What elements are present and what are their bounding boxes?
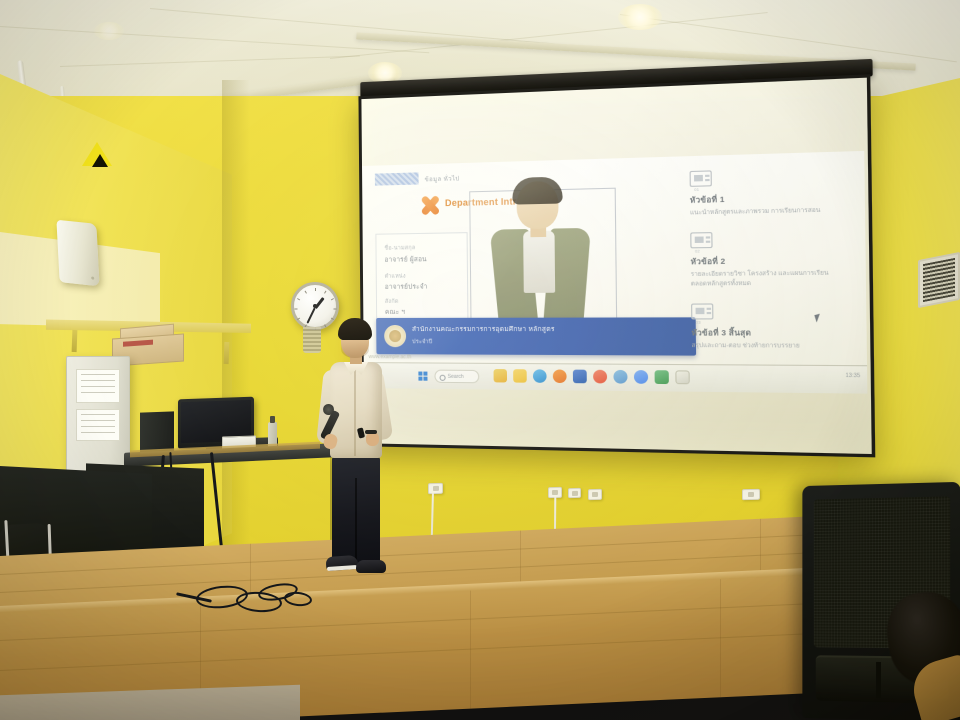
- wall-outlet[interactable]: [588, 489, 602, 500]
- firefox-icon[interactable]: [553, 369, 567, 383]
- shelf-bracket: [72, 330, 78, 352]
- box-tape-strip: [123, 340, 153, 347]
- presenter-leg-seam: [355, 478, 357, 564]
- cabinet-notice-sheet: [76, 409, 120, 441]
- shelf-bracket: [224, 342, 230, 364]
- wall-speaker: [56, 220, 99, 287]
- presenter-face-shading: [341, 340, 369, 358]
- notepad-icon[interactable]: [675, 370, 689, 384]
- topic-item: 02 หัวข้อที่ 2 รายละเอียดรายวิชา โครงสร้…: [690, 230, 840, 288]
- ceiling-downlight: [618, 4, 662, 30]
- topic-item: 01 หัวข้อที่ 1 แนะนำหลักสูตรและภาพรวม กา…: [690, 167, 840, 218]
- info-label: ชื่อ-นามสกุล: [384, 244, 415, 253]
- folder-icon[interactable]: [513, 369, 527, 383]
- brand-x-icon: [419, 194, 441, 217]
- topic-desc: แนะนำหลักสูตรและภาพรวม การเรียนการสอน: [690, 206, 839, 218]
- behringer-logo-inner: [92, 154, 108, 167]
- portrait-info-card: ชื่อ-นามสกุล อาจารย์ ผู้สอน ตำแหน่ง อาจา…: [375, 232, 468, 322]
- cabinet-notice-sheet: [76, 369, 120, 403]
- info-label: ตำแหน่ง: [385, 273, 406, 281]
- info-label: สังกัด: [385, 298, 399, 306]
- presenter-shirt-placket: [354, 368, 356, 456]
- presenter-right-shoe: [356, 560, 386, 573]
- air-vent: [918, 252, 960, 308]
- presentation-slide: ข้อมูล ทั่วไป Department Intro ชื่อ-นามส…: [361, 151, 867, 365]
- topic-icon-caption: 02: [695, 249, 700, 254]
- slide-banner: สำนักงานคณะกรรมการการอุดมศึกษา หลักสูตร …: [376, 317, 696, 355]
- taskbar-icon-row[interactable]: [494, 369, 690, 384]
- slide-top-tag: ข้อมูล ทั่วไป: [425, 173, 460, 184]
- wall-outlet[interactable]: [428, 483, 443, 494]
- mail-icon[interactable]: [573, 370, 587, 384]
- teams-icon[interactable]: [613, 370, 627, 384]
- slide-topic-list: 01 หัวข้อที่ 1 แนะนำหลักสูตรและภาพรวม กา…: [690, 167, 842, 367]
- portrait-shirt: [523, 231, 555, 293]
- excel-icon[interactable]: [655, 370, 669, 384]
- slide-decoration-stripe: [375, 172, 419, 185]
- windows-taskbar[interactable]: Search 13:35: [363, 362, 868, 394]
- topic-title: หัวข้อที่ 3 สิ้นสุด: [691, 327, 841, 340]
- wall-outlet[interactable]: [742, 489, 760, 500]
- taskbar-clock[interactable]: 13:35: [846, 373, 861, 381]
- topic-item: 03 หัวข้อที่ 3 สิ้นสุด สรุปและถาม-ตอบ ช่…: [691, 303, 841, 351]
- portrait-photo: [481, 178, 600, 335]
- office-icon[interactable]: [593, 370, 607, 384]
- equipment-cabinet: [66, 356, 130, 476]
- info-value: คณะ ฯ: [385, 307, 405, 317]
- presenter-hair: [338, 318, 372, 340]
- topic-icon-caption: 01: [694, 187, 699, 192]
- presentation-screen-icon: 03: [691, 304, 713, 320]
- topic-desc: สรุปและถาม-ตอบ ช่วงท้ายการบรรยาย: [692, 342, 842, 351]
- clock-center-pin: [313, 304, 317, 308]
- lecture-room-photo: ข้อมูล ทั่วไป Department Intro ชื่อ-นามส…: [0, 0, 960, 720]
- topic-desc: รายละเอียดรายวิชา โครงสร้าง และแผนการเรี…: [691, 270, 841, 289]
- box-printed-text: [122, 349, 123, 354]
- screen-surface: ข้อมูล ทั่วไป Department Intro ชื่อ-นามส…: [358, 74, 875, 457]
- chrome-icon[interactable]: [634, 370, 648, 384]
- presentation-screen-icon: 02: [690, 233, 712, 249]
- presentation-screen-icon: 01: [690, 170, 712, 187]
- ceiling-downlight: [94, 22, 124, 40]
- topic-title: หัวข้อที่ 2: [691, 254, 841, 269]
- start-button-icon[interactable]: [418, 372, 427, 381]
- presenter: [312, 318, 396, 580]
- wristwatch: [365, 430, 377, 434]
- projector-screen: ข้อมูล ทั่วไป Department Intro ชื่อ-นามส…: [358, 74, 875, 457]
- banner-title: สำนักงานคณะกรรมการการอุดมศึกษา หลักสูตร: [412, 326, 689, 335]
- info-value: อาจารย์ประจำ: [385, 281, 428, 291]
- projected-desktop: ข้อมูล ทั่วไป Department Intro ชื่อ-นามส…: [361, 151, 867, 394]
- file-explorer-icon[interactable]: [494, 369, 508, 382]
- presenter-shoe-sole: [327, 565, 357, 571]
- presenter-right-hand: [366, 432, 379, 446]
- portrait-hair: [512, 177, 562, 205]
- vent-slats: [923, 258, 955, 302]
- info-value: อาจารย์ ผู้สอน: [384, 254, 426, 265]
- banner-subtitle: ประจำปี: [412, 338, 432, 346]
- topic-title: หัวข้อที่ 1: [690, 191, 839, 207]
- topic-icon-caption: 03: [696, 320, 701, 325]
- wall-outlet[interactable]: [568, 488, 581, 498]
- taskbar-search-input[interactable]: Search: [434, 370, 479, 384]
- edge-icon[interactable]: [533, 369, 547, 383]
